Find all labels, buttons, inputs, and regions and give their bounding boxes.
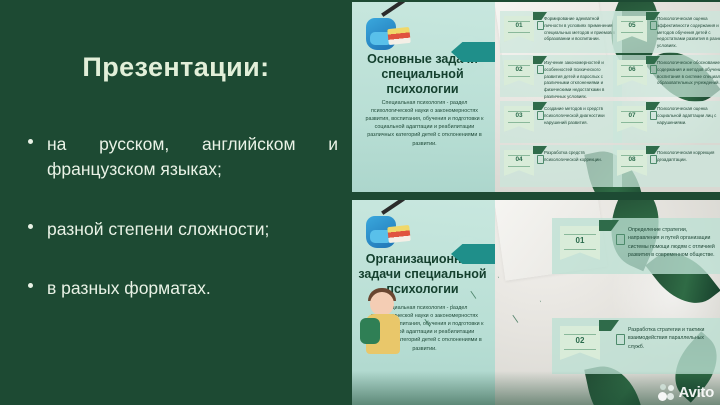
document-icon bbox=[616, 234, 625, 245]
rule-line bbox=[621, 166, 643, 167]
item-number: 02 bbox=[504, 66, 534, 73]
satchel-icon bbox=[360, 318, 380, 344]
list-item: в разных форматах. bbox=[22, 276, 338, 301]
document-icon bbox=[650, 21, 657, 30]
list-item[interactable]: 08 Психологическая коррекция дезадаптаци… bbox=[617, 150, 647, 176]
document-icon bbox=[537, 21, 544, 30]
list-item[interactable]: 02 Изучение закономерностей и особенност… bbox=[504, 60, 534, 86]
pencil-icon bbox=[381, 2, 405, 17]
item-description: Психологическая оценка эффективности сод… bbox=[657, 16, 720, 50]
item-number: 06 bbox=[617, 66, 647, 73]
item-number: 08 bbox=[617, 156, 647, 163]
avito-watermark: Avito bbox=[658, 384, 714, 401]
item-number: 02 bbox=[560, 336, 600, 345]
item-description: Создание методов и средств психологическ… bbox=[544, 106, 618, 126]
avito-label: Avito bbox=[679, 384, 714, 401]
slide-title-block: Основные задачи специальной психологии С… bbox=[352, 2, 495, 192]
slide-preview-1[interactable]: Основные задачи специальной психологии С… bbox=[352, 2, 720, 192]
list-item-label: в разных форматах. bbox=[47, 278, 211, 298]
slide-preview-2[interactable]: Организационные задачи специальной психо… bbox=[352, 200, 720, 405]
item-number: 07 bbox=[617, 112, 647, 119]
item-number: 01 bbox=[560, 236, 600, 245]
item-description: Определение стратегии, направления и пут… bbox=[628, 226, 720, 259]
backpack-illustration bbox=[358, 206, 416, 252]
document-icon bbox=[650, 155, 657, 164]
item-description: Изучение закономерностей и особенностей … bbox=[544, 60, 618, 101]
rule-line bbox=[621, 32, 643, 33]
rule-line bbox=[508, 32, 530, 33]
bullet-dot-icon bbox=[28, 139, 33, 144]
item-number: 03 bbox=[504, 112, 534, 119]
rule-line bbox=[621, 122, 643, 123]
item-number: 04 bbox=[504, 156, 534, 163]
screenshot-root: Презентации: на русском, английском и фр… bbox=[0, 0, 720, 405]
books-icon bbox=[387, 27, 411, 45]
rule-line bbox=[508, 122, 530, 123]
rule-line bbox=[621, 76, 643, 77]
page-title: Презентации: bbox=[0, 52, 352, 83]
item-number: 05 bbox=[617, 22, 647, 29]
slide-preview-stack: Основные задачи специальной психологии С… bbox=[352, 0, 720, 405]
list-item[interactable]: 01 Формирование адекватной личности в ус… bbox=[504, 16, 534, 42]
document-icon bbox=[616, 334, 625, 345]
document-icon bbox=[537, 65, 544, 74]
list-item-label: разной степени сложности; bbox=[47, 219, 269, 239]
list-item: на русском, английском и французском язы… bbox=[22, 132, 338, 183]
student-illustration bbox=[358, 288, 420, 380]
promo-panel: Презентации: на русском, английском и фр… bbox=[0, 0, 352, 405]
bullet-dot-icon bbox=[28, 283, 33, 288]
item-description: Психологическое обоснование содержания и… bbox=[657, 60, 720, 87]
promo-bullet-list: на русском, английском и французском язы… bbox=[22, 132, 338, 332]
slide-title-block: Организационные задачи специальной психо… bbox=[352, 200, 495, 405]
item-description: Психологическая коррекция дезадаптации. bbox=[657, 150, 720, 164]
rule-line bbox=[508, 166, 530, 167]
document-icon bbox=[650, 111, 657, 120]
list-item[interactable]: 03 Создание методов и средств психологич… bbox=[504, 106, 534, 132]
list-item[interactable]: 01 Определение стратегии, направления и … bbox=[560, 226, 600, 260]
backpack-illustration bbox=[358, 8, 416, 54]
list-item-label: на русском, английском и французском язы… bbox=[47, 132, 338, 183]
avito-logo-icon bbox=[658, 384, 675, 401]
list-item[interactable]: 05 Психологическая оценка эффективности … bbox=[617, 16, 647, 42]
list-item: разной степени сложности; bbox=[22, 217, 338, 242]
list-item[interactable]: 07 Психологическая оценка социальной ада… bbox=[617, 106, 647, 132]
list-item[interactable]: 04 Разработка средств психологической ко… bbox=[504, 150, 534, 176]
rule-line bbox=[564, 234, 596, 235]
item-description: Формирование адекватной личности в услов… bbox=[544, 16, 618, 43]
pencil-icon bbox=[381, 200, 405, 215]
item-description: Разработка средств психологической корре… bbox=[544, 150, 618, 164]
rule-line bbox=[564, 249, 596, 250]
list-item[interactable]: 06 Психологическое обоснование содержани… bbox=[617, 60, 647, 86]
slide-body-text: Специальная психология - раздел психолог… bbox=[362, 99, 487, 148]
rule-line bbox=[564, 349, 596, 350]
books-icon bbox=[387, 225, 411, 243]
document-icon bbox=[537, 155, 544, 164]
document-icon bbox=[537, 111, 544, 120]
face-icon bbox=[370, 292, 394, 316]
list-item[interactable]: 02 Разработка стратегии и тактики взаимо… bbox=[560, 326, 600, 360]
rule-line bbox=[564, 334, 596, 335]
bullet-dot-icon bbox=[28, 224, 33, 229]
item-description: Психологическая оценка социальной адапта… bbox=[657, 106, 720, 126]
rule-line bbox=[508, 76, 530, 77]
item-number: 01 bbox=[504, 22, 534, 29]
item-description: Разработка стратегии и тактики взаимодей… bbox=[628, 326, 720, 351]
document-icon bbox=[650, 65, 657, 74]
